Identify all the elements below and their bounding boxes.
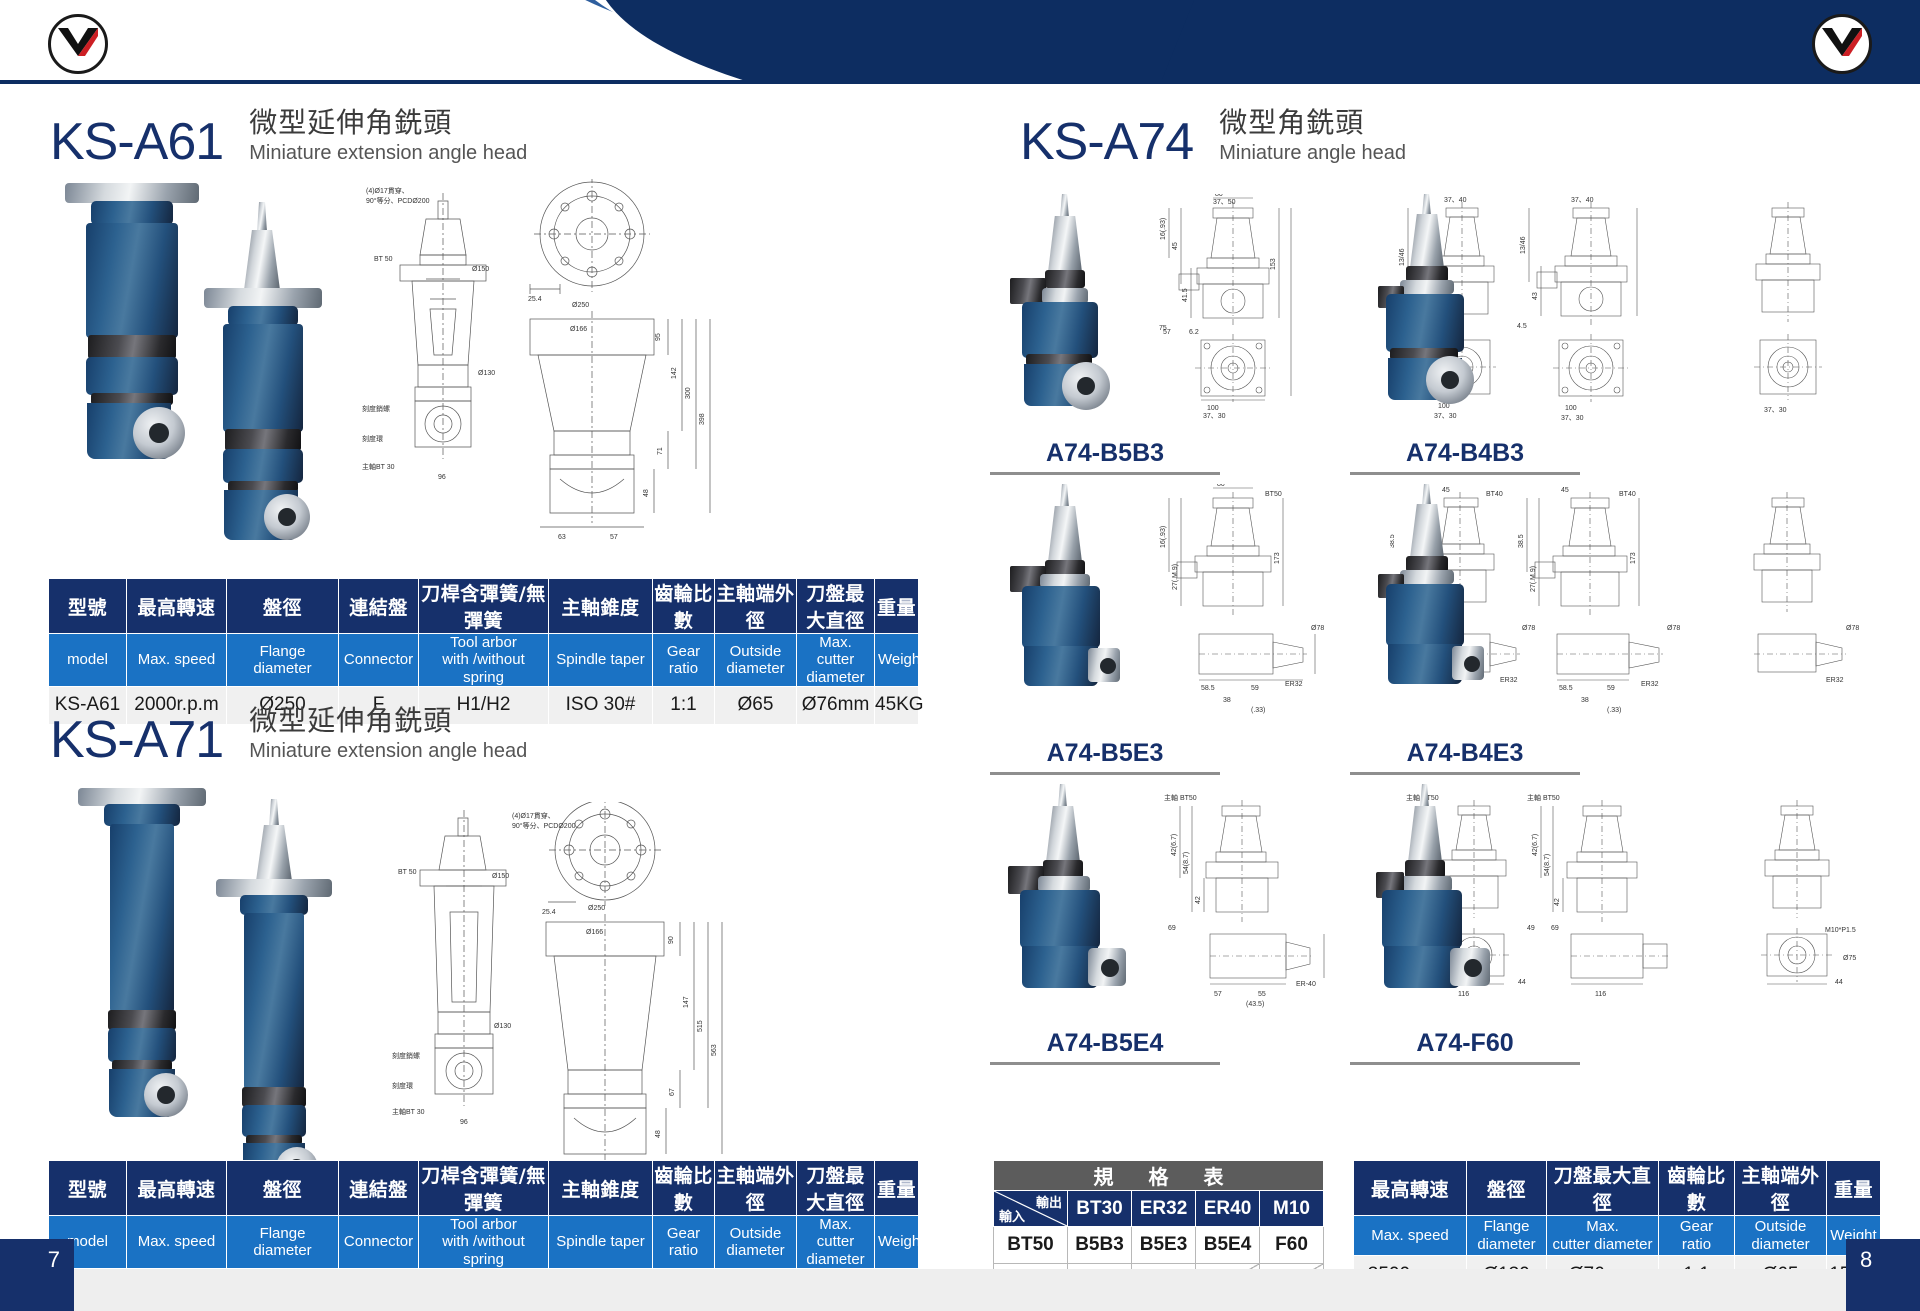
table-header-row-cn: 最高轉速 盤徑 刀盤最大直徑 齒輪比數 主軸端外徑 重量 (1354, 1161, 1881, 1216)
th-en-weight: Weight (875, 634, 919, 687)
product-name-en: Miniature extension angle head (249, 739, 527, 764)
svg-text:80: 80 (1215, 194, 1223, 198)
product-code: KS-A74 (1020, 116, 1193, 168)
svg-text:ER32: ER32 (1826, 677, 1844, 684)
matrix-title-row: 規 格 表 (994, 1161, 1324, 1191)
th-cn-outside-diameter: 主軸端外徑 (715, 1161, 797, 1216)
matrix-col-bt30: BT30 (1068, 1191, 1132, 1227)
svg-text:48: 48 (643, 489, 650, 497)
th-cn-max-speed: 最高轉速 (1354, 1161, 1467, 1216)
product-name-block: 微型延伸角銑頭 Miniature extension angle head (249, 106, 527, 168)
svg-text:27(.M.9): 27(.M.9) (1172, 564, 1179, 590)
product-photo-a74-b5e3 (1000, 484, 1150, 724)
svg-text:58.5: 58.5 (1201, 685, 1215, 692)
svg-text:71: 71 (657, 447, 664, 455)
svg-text:48: 48 (655, 1130, 662, 1138)
td-weight: 45KG (875, 686, 919, 724)
th-en-outside-diameter: Outside diameter (715, 634, 797, 687)
th-cn-outside-diameter: 主軸端外徑 (1735, 1161, 1827, 1216)
matrix-col-er32: ER32 (1132, 1191, 1196, 1227)
svg-text:37、30: 37、30 (1764, 407, 1787, 414)
product-photo-ks-a61-assembly (178, 202, 368, 522)
svg-text:90°等分、PCDØ200: 90°等分、PCDØ200 (512, 821, 576, 830)
svg-text:25.4: 25.4 (542, 909, 556, 916)
catalog-page: KS-A61 微型延伸角銑頭 Miniature extension angle… (0, 0, 1920, 1311)
svg-text:4.5: 4.5 (1517, 323, 1527, 330)
svg-text:37、30: 37、30 (1203, 413, 1226, 420)
cad-drawing-a74-b4e3: 45 BT40 38.5 27(.M.9) 173 58.5 59 ER32 3… (1515, 484, 1715, 724)
cad-drawing-ks-a61: (4)Ø17貫穿、 90°等分、PCDØ200 25.4 BT 50 Ø150 … (360, 179, 920, 549)
svg-text:(4)Ø17貫穿、: (4)Ø17貫穿、 (512, 811, 555, 820)
matrix-axis-corner: 輸出 輸入 (994, 1191, 1068, 1227)
cad-drawing-a74-b4b3: 37、40 13/46 43 4.5 100 37、30 (1515, 194, 1715, 424)
svg-text:38: 38 (1581, 697, 1589, 704)
svg-text:142: 142 (671, 367, 678, 379)
svg-text:42(6.7): 42(6.7) (1532, 834, 1539, 856)
footer-bar (0, 1269, 1920, 1311)
svg-text:300: 300 (685, 387, 692, 399)
th-cn-max-cutter-diameter: 刀盤最大直徑 (1547, 1161, 1659, 1216)
product-name-en: Miniature extension angle head (249, 141, 527, 166)
svg-text:(4)Ø17貫穿、: (4)Ø17貫穿、 (366, 186, 409, 195)
svg-text:100: 100 (1565, 405, 1577, 412)
svg-text:(.33): (.33) (1607, 707, 1621, 714)
svg-text:173: 173 (1630, 552, 1637, 564)
th-cn-max-cutter-diameter: 刀盤最大直徑 (797, 1161, 875, 1216)
svg-text:42: 42 (1554, 898, 1561, 906)
svg-text:Ø78: Ø78 (1846, 625, 1859, 632)
th-en-tool-arbor: Tool arbor with /without spring (419, 634, 549, 687)
svg-text:ER32: ER32 (1641, 681, 1659, 688)
left-page-column: KS-A61 微型延伸角銑頭 Miniature extension angle… (0, 84, 960, 1239)
variant-label-a74-b5e3: A74-B5E3 (990, 739, 1220, 775)
th-cn-spindle-taper: 主軸錐度 (549, 1161, 653, 1216)
svg-text:58.5: 58.5 (1559, 685, 1573, 692)
th-cn-weight: 重量 (875, 579, 919, 634)
svg-text:38.5: 38.5 (1518, 534, 1525, 548)
td-gear-ratio: 1:1 (653, 686, 715, 724)
svg-text:Ø166: Ø166 (586, 929, 603, 936)
th-en-max-cutter-diameter: Max. cutter diameter (797, 634, 875, 687)
product-photo-a74-b5e4 (1000, 784, 1160, 1014)
svg-text:95: 95 (655, 333, 662, 341)
variant-label-a74-b4e3: A74-B4E3 (1350, 739, 1580, 775)
td-max-cutter-diameter: Ø76mm (797, 686, 875, 724)
svg-text:25.4: 25.4 (528, 296, 542, 303)
matrix-header-row: 輸出 輸入 BT30 ER32 ER40 M10 (994, 1191, 1324, 1227)
svg-text:(43.5): (43.5) (1246, 1001, 1264, 1008)
svg-text:M10*P1.5: M10*P1.5 (1825, 927, 1856, 934)
th-cn-connector: 連結盤 (339, 1161, 419, 1216)
svg-text:Ø150: Ø150 (492, 873, 509, 880)
svg-text:Ø250: Ø250 (572, 302, 589, 309)
svg-text:45: 45 (1172, 242, 1179, 250)
th-en-spindle-taper: Spindle taper (549, 634, 653, 687)
th-cn-flange-diameter: 盤徑 (227, 1161, 339, 1216)
svg-text:ER-40: ER-40 (1296, 981, 1316, 988)
svg-text:96: 96 (460, 1119, 468, 1126)
svg-text:67: 67 (669, 1088, 676, 1096)
svg-text:ER32: ER32 (1285, 681, 1303, 688)
svg-text:刻度環: 刻度環 (392, 1081, 413, 1090)
svg-text:主軸BT 30: 主軸BT 30 (392, 1107, 425, 1116)
svg-text:153: 153 (1270, 258, 1277, 270)
svg-text:BT40: BT40 (1619, 491, 1636, 498)
svg-text:Ø166: Ø166 (570, 326, 587, 333)
svg-text:173: 173 (1274, 552, 1281, 564)
svg-text:Ø78: Ø78 (1667, 625, 1680, 632)
product-name-cn: 微型角銑頭 (1219, 106, 1406, 139)
spec-table-ks-a61: 型號 最高轉速 盤徑 連結盤 刀桿含彈簧/無彈簧 主軸錐度 齒輪比數 主軸端外徑… (48, 578, 919, 725)
svg-text:147: 147 (683, 996, 690, 1008)
product-photo-ks-a71-assembly (190, 799, 380, 1199)
svg-text:主軸 BT50: 主軸 BT50 (1164, 793, 1197, 802)
th-en-gear-ratio: Gear ratio (653, 634, 715, 687)
matrix-axis-input: 輸入 (999, 1206, 1025, 1225)
svg-text:Ø130: Ø130 (494, 1023, 511, 1030)
svg-text:BT 50: BT 50 (374, 256, 393, 263)
svg-text:398: 398 (699, 413, 706, 425)
th-en-model: model (49, 634, 127, 687)
svg-text:13/46: 13/46 (1520, 236, 1527, 254)
th-cn-spindle-taper: 主軸錐度 (549, 579, 653, 634)
page-footer: 7 8 (0, 1239, 1920, 1311)
svg-text:Ø150: Ø150 (472, 266, 489, 273)
svg-text:57: 57 (610, 534, 618, 541)
th-cn-gear-ratio: 齒輪比數 (653, 579, 715, 634)
product-heading-ks-a71: KS-A71 微型延伸角銑頭 Miniature extension angle… (50, 704, 527, 766)
svg-text:59: 59 (1607, 685, 1615, 692)
svg-text:55: 55 (1258, 991, 1266, 998)
product-photo-a74-f60 (1360, 784, 1520, 1014)
product-name-block: 微型延伸角銑頭 Miniature extension angle head (249, 704, 527, 766)
svg-text:49: 49 (1527, 925, 1535, 932)
th-en-flange-diameter: Flange diameter (227, 634, 339, 687)
product-name-cn: 微型延伸角銑頭 (249, 704, 527, 737)
matrix-col-m10: M10 (1260, 1191, 1324, 1227)
matrix-col-er40: ER40 (1196, 1191, 1260, 1227)
table-header-row-cn: 型號 最高轉速 盤徑 連結盤 刀桿含彈簧/無彈簧 主軸錐度 齒輪比數 主軸端外徑… (49, 1161, 919, 1216)
th-en-max-speed: Max. speed (127, 634, 227, 687)
svg-text:41.5: 41.5 (1182, 288, 1189, 302)
svg-text:27(.M.9): 27(.M.9) (1530, 566, 1537, 592)
svg-text:116: 116 (1595, 991, 1606, 998)
product-name-en: Miniature angle head (1219, 141, 1406, 166)
th-en-connector: Connector (339, 634, 419, 687)
matrix-title: 規 格 表 (994, 1161, 1324, 1191)
svg-text:90°等分、PCDØ200: 90°等分、PCDØ200 (366, 196, 430, 205)
svg-text:69: 69 (1551, 925, 1559, 932)
page-banner (0, 0, 1920, 84)
th-cn-flange-diameter: 盤徑 (1467, 1161, 1547, 1216)
product-photo-a74-b4e3 (1360, 484, 1510, 724)
svg-text:42(6.7): 42(6.7) (1171, 834, 1178, 856)
product-name-block: 微型角銑頭 Miniature angle head (1219, 106, 1406, 168)
td-outside-diameter: Ø65 (715, 686, 797, 724)
svg-text:BT50: BT50 (1265, 491, 1282, 498)
product-code: KS-A71 (50, 714, 223, 766)
svg-text:刻度環: 刻度環 (362, 434, 383, 443)
th-cn-tool-arbor: 刀桿含彈簧/無彈簧 (419, 579, 549, 634)
variant-label-a74-b5e4: A74-B5E4 (990, 1029, 1220, 1065)
svg-text:主軸 BT50: 主軸 BT50 (1527, 793, 1560, 802)
svg-text:刻度銷螺: 刻度銷螺 (392, 1051, 420, 1060)
svg-text:44: 44 (1835, 979, 1843, 986)
th-cn-max-speed: 最高轉速 (127, 1161, 227, 1216)
th-cn-model: 型號 (49, 579, 127, 634)
svg-text:16(.93): 16(.93) (1160, 218, 1167, 240)
th-cn-flange-diameter: 盤徑 (227, 579, 339, 634)
th-cn-gear-ratio: 齒輪比數 (1659, 1161, 1735, 1216)
th-cn-model: 型號 (49, 1161, 127, 1216)
cad-drawing-a74-b4b3-side: 37、30 (1720, 194, 1870, 424)
page-number-left: 7 (0, 1239, 74, 1311)
variant-label-a74-b5b3: A74-B5B3 (990, 439, 1220, 475)
svg-text:37、50: 37、50 (1213, 199, 1236, 206)
svg-text:Ø130: Ø130 (478, 370, 495, 377)
svg-text:59: 59 (1251, 685, 1259, 692)
svg-text:63: 63 (558, 534, 566, 541)
th-cn-tool-arbor: 刀桿含彈簧/無彈簧 (419, 1161, 549, 1216)
product-code: KS-A61 (50, 116, 223, 168)
table-header-row-cn: 型號 最高轉速 盤徑 連結盤 刀桿含彈簧/無彈簧 主軸錐度 齒輪比數 主軸端外徑… (49, 579, 919, 634)
cad-drawing-a74-b4e3-side: ER32 Ø78 (1720, 484, 1870, 724)
logo-v-icon (1821, 26, 1863, 60)
th-cn-gear-ratio: 齒輪比數 (653, 1161, 715, 1216)
svg-text:90: 90 (668, 936, 675, 944)
product-photo-a74-b4b3 (1360, 194, 1510, 424)
company-logo (48, 14, 108, 74)
svg-text:100: 100 (1207, 405, 1219, 412)
svg-text:45: 45 (1561, 487, 1569, 494)
svg-text:6.2: 6.2 (1189, 329, 1199, 336)
matrix-axis-output: 輸出 (1036, 1192, 1062, 1211)
svg-text:57: 57 (1214, 991, 1222, 998)
logo-v-icon (57, 26, 99, 60)
svg-text:96: 96 (438, 474, 446, 481)
product-photo-a74-b5b3 (1000, 194, 1150, 424)
th-cn-outside-diameter: 主軸端外徑 (715, 579, 797, 634)
svg-text:Ø75: Ø75 (1843, 955, 1856, 962)
svg-text:(.33): (.33) (1251, 707, 1265, 714)
svg-text:515: 515 (697, 1020, 704, 1032)
svg-text:54(8.7): 54(8.7) (1183, 852, 1190, 874)
svg-text:主軸BT 30: 主軸BT 30 (362, 462, 395, 471)
svg-text:563: 563 (711, 1044, 718, 1056)
cad-drawing-a74-f60-side: M10*P1.5 Ø75 44 (1725, 784, 1885, 1014)
page-number-right: 8 (1846, 1239, 1920, 1311)
td-spindle-taper: ISO 30# (549, 686, 653, 724)
product-name-cn: 微型延伸角銑頭 (249, 106, 527, 139)
cad-drawing-a74-f60: 主軸 BT50 42(6.7) 54(8.7) 42 49 69 116 (1525, 784, 1725, 1014)
variant-label-a74-f60: A74-F60 (1350, 1029, 1580, 1065)
svg-text:54(8.7): 54(8.7) (1544, 854, 1551, 876)
variant-label-a74-b4b3: A74-B4B3 (1350, 439, 1580, 475)
th-cn-max-speed: 最高轉速 (127, 579, 227, 634)
right-page-column: KS-A74 微型角銑頭 Miniature angle head (960, 84, 1920, 1239)
company-logo (1812, 14, 1872, 74)
svg-text:16(.93): 16(.93) (1160, 526, 1167, 548)
svg-text:刻度銷螺: 刻度銷螺 (362, 404, 390, 413)
svg-text:43: 43 (1532, 292, 1539, 300)
cad-drawing-ks-a71: (4)Ø17貫穿、 90°等分、PCDØ200 25.4 BT 50 Ø150 … (390, 802, 930, 1202)
th-cn-weight: 重量 (1827, 1161, 1881, 1216)
th-cn-max-cutter-diameter: 刀盤最大直徑 (797, 579, 875, 634)
svg-text:BT 50: BT 50 (398, 869, 417, 876)
svg-text:Ø78: Ø78 (1311, 625, 1324, 632)
svg-text:69: 69 (1168, 925, 1176, 932)
svg-text:80: 80 (1217, 484, 1225, 488)
product-heading-ks-a74: KS-A74 微型角銑頭 Miniature angle head (1020, 106, 1406, 168)
table-header-row-en: model Max. speed Flange diameter Connect… (49, 634, 919, 687)
th-cn-connector: 連結盤 (339, 579, 419, 634)
svg-text:37、40: 37、40 (1571, 197, 1594, 204)
svg-text:37、30: 37、30 (1561, 415, 1584, 422)
svg-text:Ø250: Ø250 (588, 905, 605, 912)
th-cn-weight: 重量 (875, 1161, 919, 1216)
svg-text:42: 42 (1195, 896, 1202, 904)
svg-text:38: 38 (1223, 697, 1231, 704)
product-heading-ks-a61: KS-A61 微型延伸角銑頭 Miniature extension angle… (50, 106, 527, 168)
svg-text:57: 57 (1163, 329, 1171, 336)
